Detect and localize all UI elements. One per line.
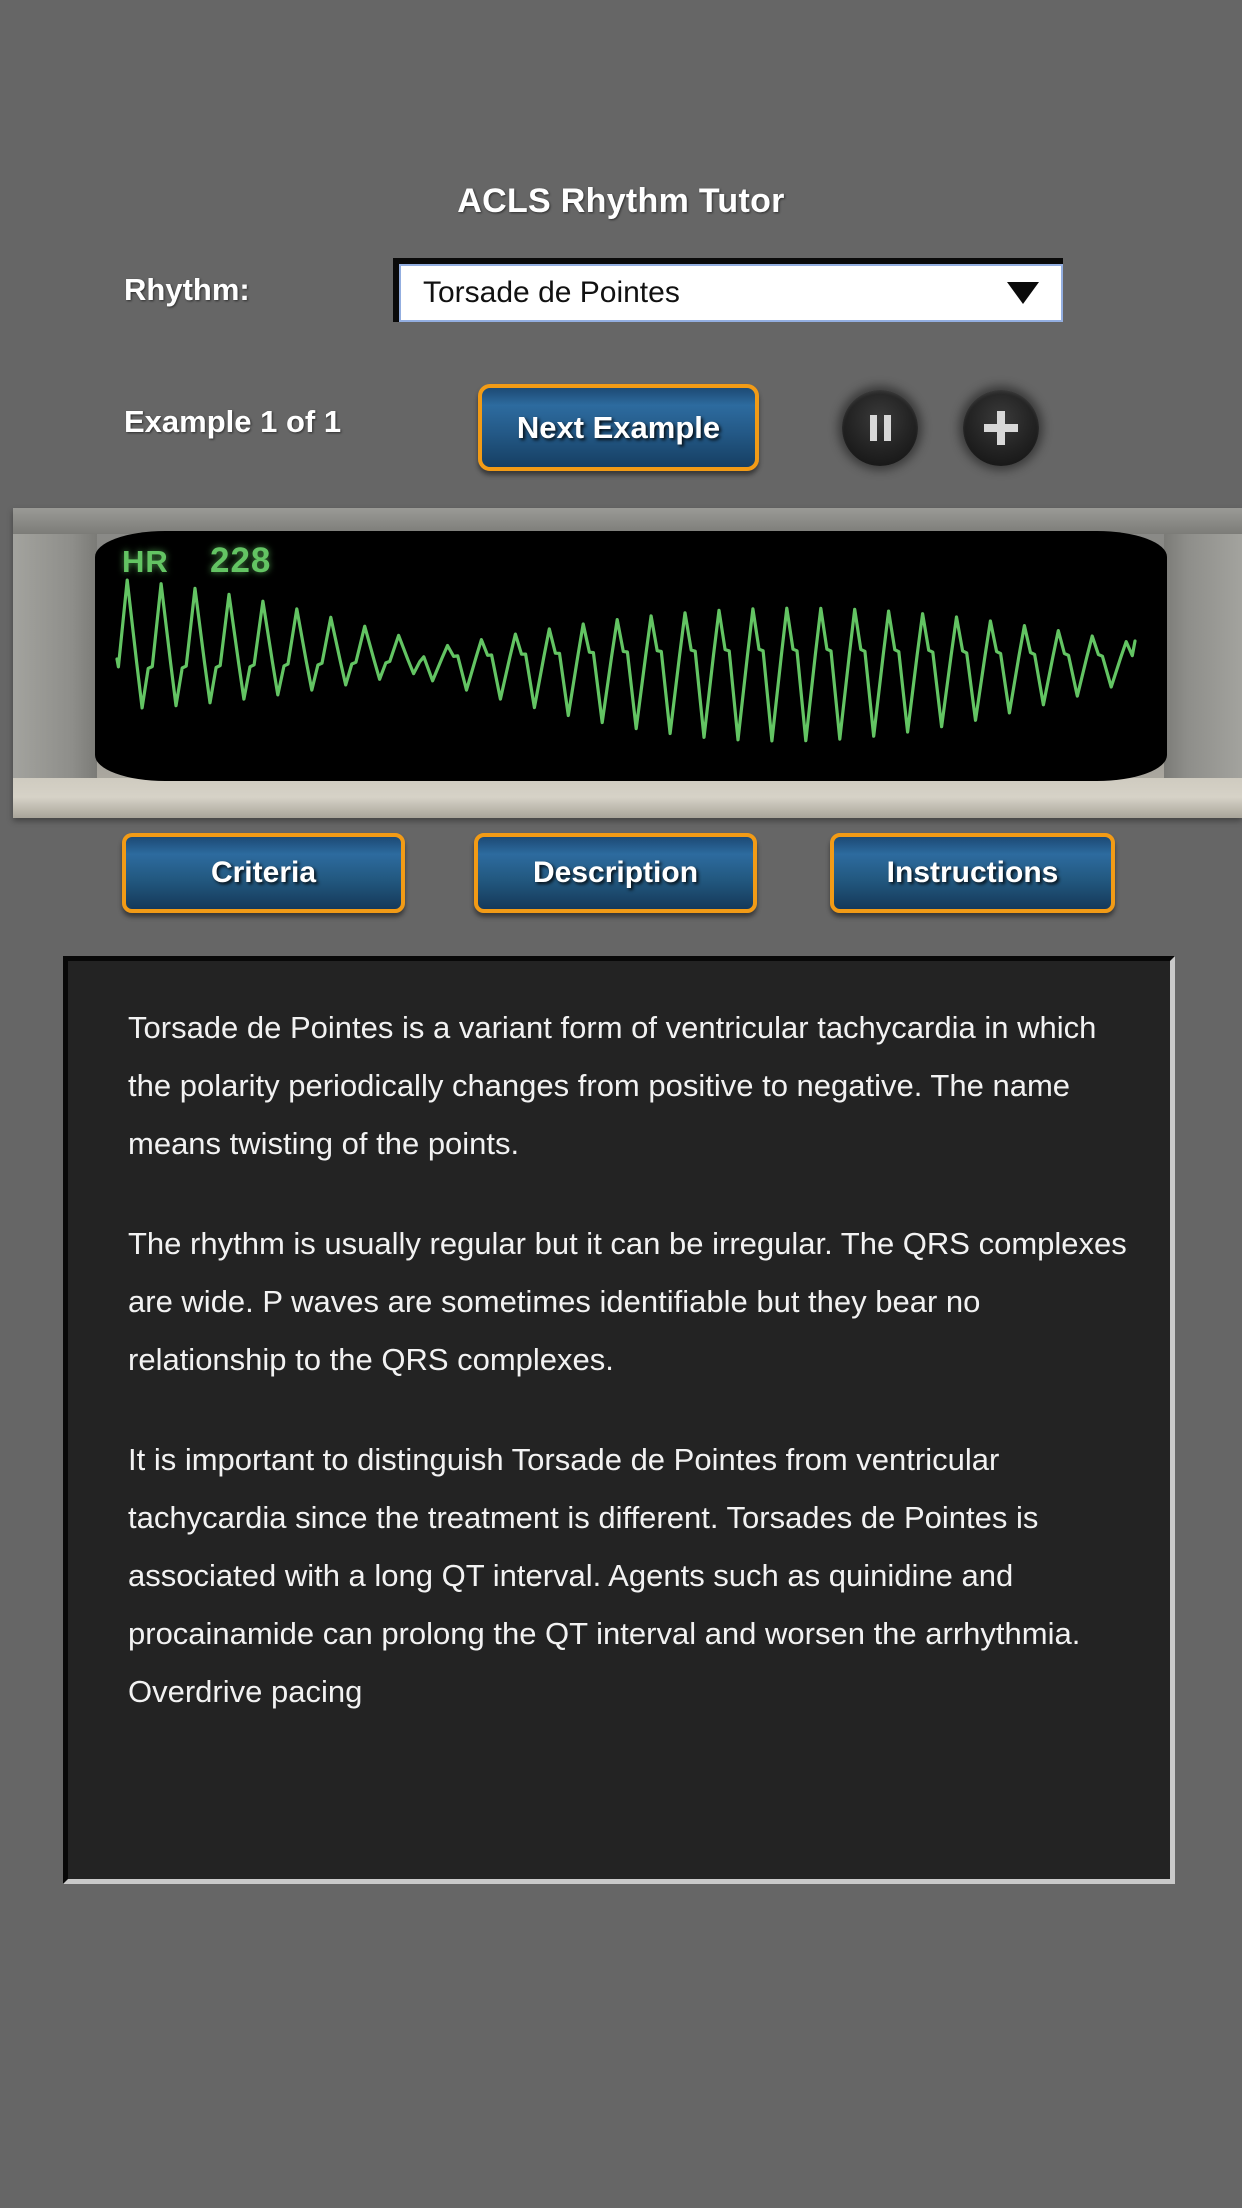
monitor-bezel-left [13,508,97,818]
ecg-waveform [95,531,1167,781]
monitor-bezel-right [1164,508,1242,818]
rhythm-selector-row: Rhythm: Torsade de Pointes [0,258,1242,328]
tab-description-label: Description [533,856,698,890]
ecg-screen[interactable]: HR 228 [95,531,1167,781]
example-counter: Example 1 of 1 [124,404,341,440]
pause-button[interactable] [842,390,918,466]
rhythm-select-shadow: Torsade de Pointes [393,258,1063,322]
content-panel-body: Torsade de Pointes is a variant form of … [68,961,1170,1721]
rhythm-label: Rhythm: [124,272,250,308]
content-paragraph: The rhythm is usually regular but it can… [128,1215,1130,1389]
plus-icon [984,411,1018,445]
tab-instructions[interactable]: Instructions [830,833,1115,913]
zoom-in-button[interactable] [963,390,1039,466]
content-tabs: Criteria Description Instructions [0,833,1242,925]
content-paragraph: It is important to distinguish Torsade d… [128,1431,1130,1721]
rhythm-select-value: Torsade de Pointes [423,276,680,310]
tab-criteria-label: Criteria [211,856,316,890]
next-example-button[interactable]: Next Example [478,384,759,471]
tab-instructions-label: Instructions [887,856,1059,890]
example-controls-row: Example 1 of 1 Next Example [0,378,1242,488]
pause-icon [870,415,891,441]
monitor-bezel-bottom [13,778,1242,818]
next-example-label: Next Example [517,410,720,446]
ecg-monitor: HR 228 [13,508,1242,818]
tab-description[interactable]: Description [474,833,757,913]
chevron-down-icon [1007,282,1039,304]
page-title: ACLS Rhythm Tutor [0,182,1242,221]
content-paragraph: Torsade de Pointes is a variant form of … [128,999,1130,1173]
tab-criteria[interactable]: Criteria [122,833,405,913]
rhythm-select[interactable]: Torsade de Pointes [399,264,1063,322]
content-panel[interactable]: Torsade de Pointes is a variant form of … [63,956,1175,1884]
